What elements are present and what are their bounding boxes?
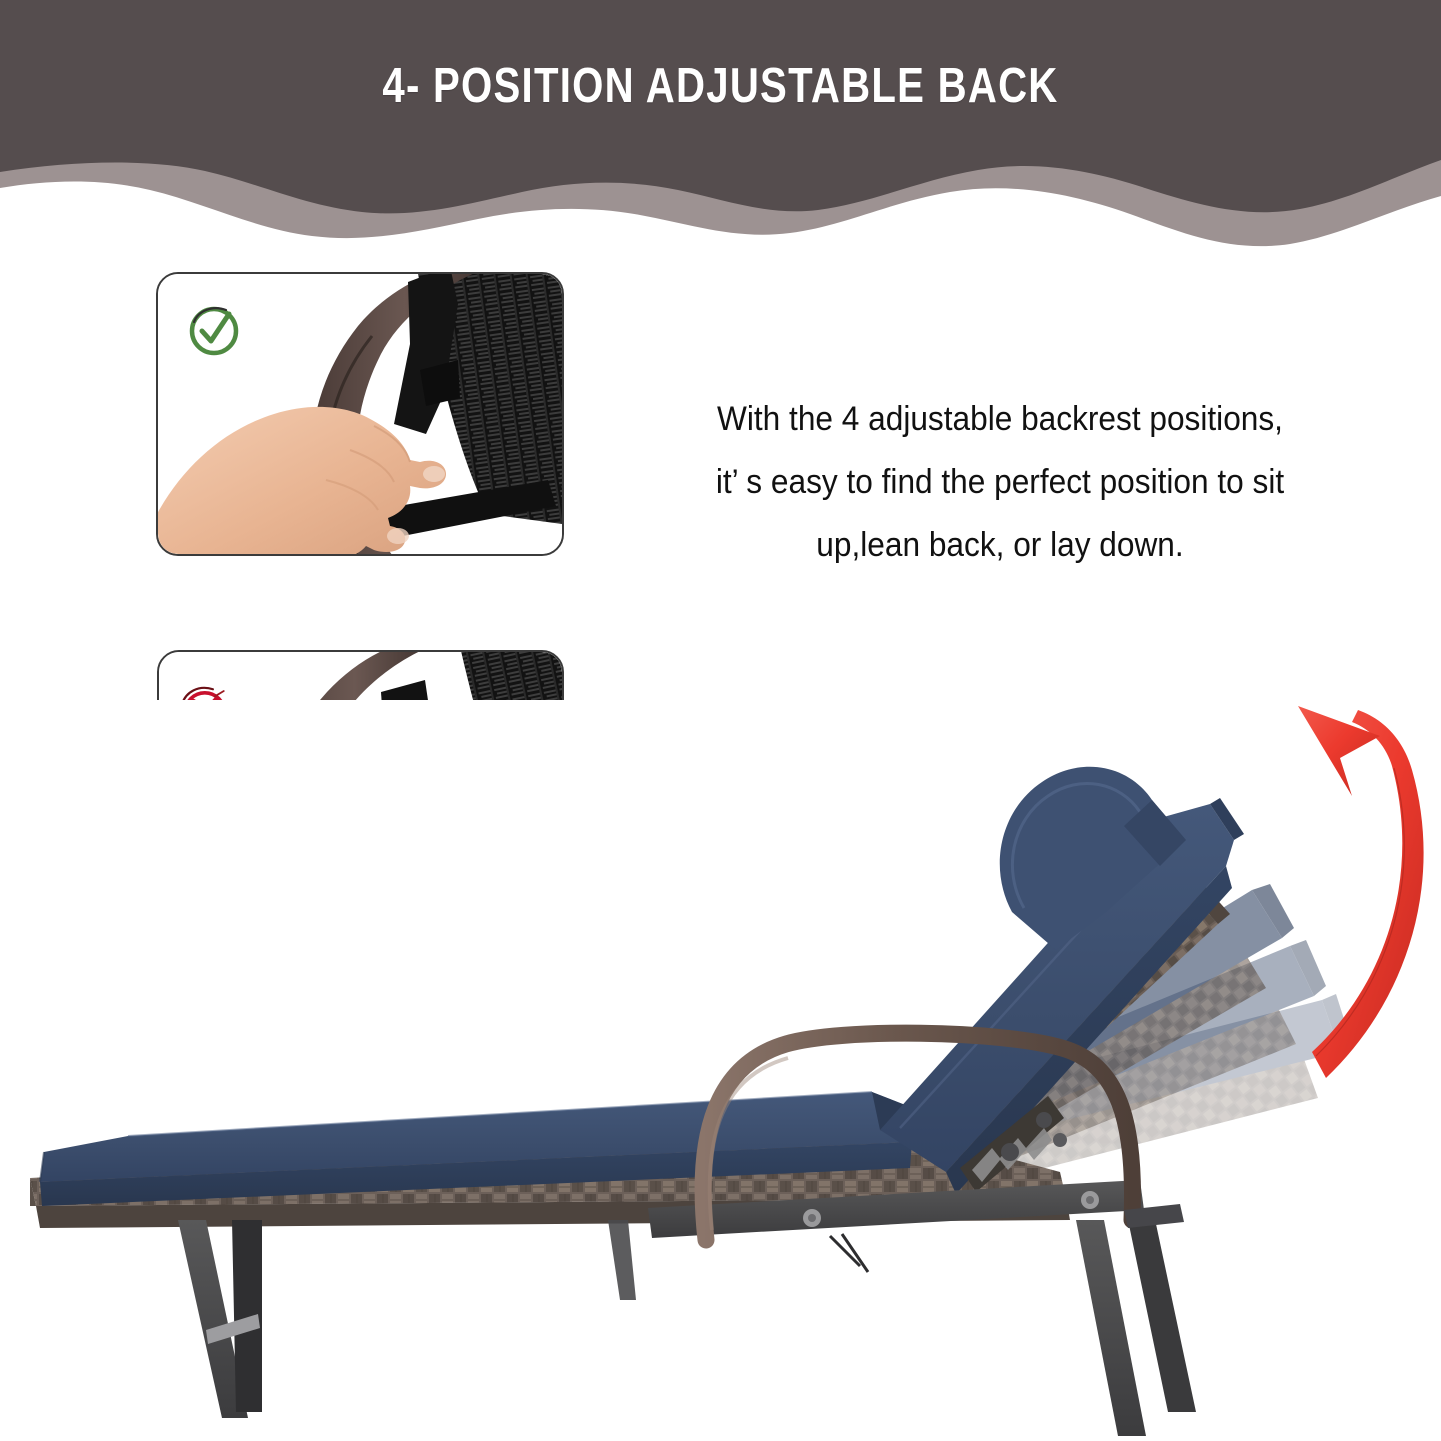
description-line-1: With the 4 adjustable backrest positions… [628, 388, 1372, 451]
description-line-3: up,lean back, or lay down. [628, 514, 1372, 577]
page-title: 4- POSITION ADJUSTABLE BACK [130, 58, 1312, 114]
green-check-circle-icon [186, 302, 242, 358]
header-banner: 4- POSITION ADJUSTABLE BACK [0, 0, 1441, 250]
infographic-canvas: 4- POSITION ADJUSTABLE BACK [0, 0, 1441, 1441]
banner-wave-graphic [0, 0, 1441, 250]
product-illustration-chaise-lounge [0, 700, 1441, 1441]
inset-card-correct-grip [156, 272, 564, 556]
description-paragraph: With the 4 adjustable backrest positions… [628, 388, 1372, 577]
description-line-2: it’ s easy to find the perfect position … [628, 451, 1372, 514]
